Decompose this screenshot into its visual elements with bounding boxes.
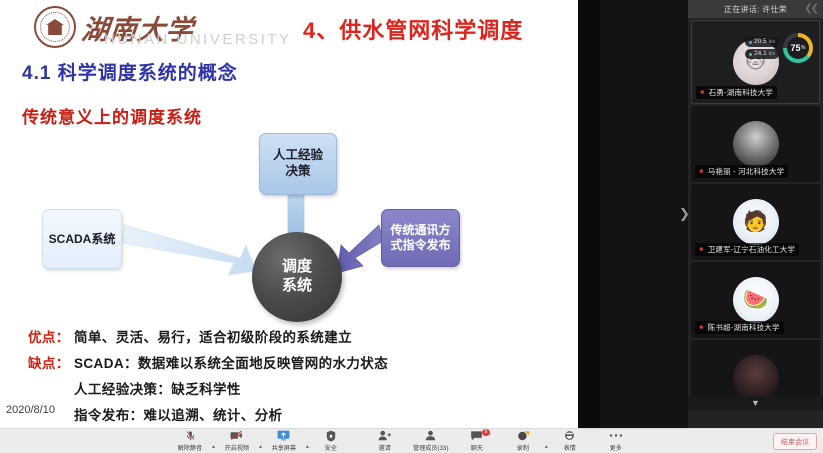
avatar-face-icon: 🍉 (743, 290, 768, 310)
university-name-en: HUNAN UNIVERSITY (104, 31, 292, 48)
chat-unread-badge: 9 (482, 429, 490, 436)
participant-name: 马艳丽 - 河北科技大学 (708, 166, 785, 177)
bullet-text: 指令发布：难以追溯、统计、分析 (74, 404, 283, 424)
connection-quality-ring: 75 % (783, 33, 813, 63)
toolbar-button-chat[interactable]: 9 聊天 (455, 430, 499, 453)
participant-tile[interactable]: 🐱 20.5 k/s 24.1 k/s (691, 20, 820, 104)
toolbar-button-start-video[interactable]: 开启视频 (215, 430, 259, 453)
security-shield-icon (326, 430, 336, 442)
mic-muted-icon: ⚫ (698, 324, 705, 332)
toolbar-button-emoji[interactable]: 表情 (548, 430, 592, 453)
node-core-line2: 系统 (282, 277, 312, 294)
rail-scroll-down-icon[interactable]: ▼ (688, 396, 823, 410)
toolbar-label: 录制 (517, 443, 529, 452)
bullet-row: 人工经验决策：缺乏科学性 (28, 378, 568, 398)
scheduling-system-diagram: 人工经验 决策 SCADA系统 传统通讯方 式指令发布 调度 系统 (0, 125, 578, 320)
bullet-text: 简单、灵活、易行，适合初级阶段的系统建立 (74, 326, 352, 346)
node-comm-line2: 式指令发布 (390, 238, 450, 252)
bullet-row: 缺点： SCADA：数据难以系统全面地反映管网的水力状态 (28, 352, 568, 372)
toolbar-button-share-screen[interactable]: 共享屏幕 (262, 430, 306, 453)
network-stats: 20.5 k/s 24.1 k/s 75 % (745, 33, 813, 63)
share-screen-icon (277, 430, 290, 442)
end-meeting-button[interactable]: 结束会议 (773, 433, 817, 450)
slide-date: 2020/8/10 (6, 404, 55, 416)
invite-user-icon (378, 430, 391, 442)
participant-name-chip: ⚫ 石勇-湖南科技大学 (696, 86, 777, 99)
connection-quality-value: 75 (791, 43, 801, 53)
participant-tiles[interactable]: 🐱 20.5 k/s 24.1 k/s (688, 18, 823, 410)
bullet-text: SCADA：数据难以系统全面地反映管网的水力状态 (74, 352, 388, 372)
upload-speed-pill: 20.5 k/s (745, 37, 779, 47)
toolbar-label: 聊天 (471, 443, 483, 452)
participant-name-chip: ⚫ 马艳丽 - 河北科技大学 (695, 165, 788, 178)
upload-dot-icon (749, 41, 752, 44)
rail-expand-chevrons-icon[interactable]: ❮❮ (804, 3, 817, 14)
download-dot-icon (749, 53, 752, 56)
toolbar-label: 更多 (610, 443, 622, 452)
download-speed-unit: k/s (769, 51, 775, 57)
diagram-node-manual-decision: 人工经验 决策 (259, 133, 337, 195)
avatar (733, 355, 779, 401)
node-core-line1: 调度 (282, 258, 312, 275)
bullet-text: 人工经验决策：缺乏科学性 (74, 378, 241, 398)
participant-tile[interactable]: ⚫ 马艳丽 - 河北科技大学 (691, 106, 820, 182)
shared-screen-stage: 湖南大学 HUNAN UNIVERSITY 4、供水管网科学调度 4.1 科学调… (0, 0, 600, 428)
avatar-face-icon: 🧑 (743, 212, 768, 232)
meeting-toolbar: 解除静音 ▲ 开启视频 ▲ 共享屏幕 ▲ 安全 (0, 428, 823, 453)
participant-name-chip: ⚫ 卫建军-辽宁石油化工大学 (695, 243, 799, 256)
toolbar-label: 共享屏幕 (272, 443, 296, 452)
bullet-row: 指令发布：难以追溯、统计、分析 (28, 404, 568, 424)
toolbar-button-more[interactable]: 更多 (594, 430, 638, 453)
toolbar-label: 开启视频 (225, 443, 249, 452)
toolbar-label: 安全 (325, 443, 337, 452)
toolbar-button-security[interactable]: 安全 (309, 430, 353, 453)
toolbar-label: 邀请 (379, 443, 391, 452)
participant-name-chip: ⚫ 陈书超-湖南科技大学 (695, 321, 784, 334)
record-icon (517, 430, 529, 442)
emoji-icon (564, 430, 575, 442)
mic-muted-icon: ⚫ (699, 89, 706, 97)
download-speed-pill: 24.1 k/s (745, 49, 779, 59)
participant-name: 石勇-湖南科技大学 (709, 87, 773, 98)
toolbar-button-invite[interactable]: 邀请 (363, 430, 407, 453)
mic-muted-icon: ⚫ (698, 246, 705, 254)
toolbar-label: 管理成员(33) (413, 443, 448, 452)
download-speed-value: 24.1 (754, 51, 767, 58)
meeting-window: 湖南大学 HUNAN UNIVERSITY 4、供水管网科学调度 4.1 科学调… (0, 0, 823, 453)
node-comm-line1: 传统通讯方 (390, 223, 450, 237)
collapse-panel-arrow-icon[interactable]: ❯ (679, 203, 689, 225)
diagram-node-communication: 传统通讯方 式指令发布 (381, 209, 460, 267)
participant-tile[interactable]: 🍉 ⚫ 陈书超-湖南科技大学 (691, 262, 820, 338)
bullet-row: 优点： 简单、灵活、易行，适合初级阶段的系统建立 (28, 326, 568, 346)
active-speaker-bar: 正在讲话: 许仕荣 ❮❮ (688, 0, 823, 18)
diagram-node-scheduling-system: 调度 系统 (252, 232, 342, 322)
more-icon (609, 430, 623, 442)
participant-name: 卫建军-辽宁石油化工大学 (708, 244, 795, 255)
manage-members-icon (424, 430, 437, 442)
toolbar-button-record[interactable]: 录制 (501, 430, 545, 453)
toolbar-button-unmute[interactable]: 解除静音 (168, 430, 212, 453)
upload-speed-unit: k/s (769, 39, 775, 45)
mic-muted-icon: ⚫ (698, 168, 705, 176)
mic-muted-icon (185, 430, 196, 442)
node-manual-line2: 决策 (285, 164, 310, 178)
toolbar-label: 表情 (564, 443, 576, 452)
slide-section-heading: 4.1 科学调度系统的概念 (22, 58, 238, 85)
participant-name: 陈书超-湖南科技大学 (708, 322, 780, 333)
presentation-slide: 湖南大学 HUNAN UNIVERSITY 4、供水管网科学调度 4.1 科学调… (0, 0, 578, 428)
stage-letterbox (578, 0, 600, 428)
avatar: 🍉 (733, 277, 779, 323)
diagram-node-scada: SCADA系统 (42, 209, 122, 269)
connection-quality-unit: % (801, 45, 805, 51)
toolbar-button-manage-members[interactable]: 管理成员(33) (409, 430, 453, 453)
avatar: 🧑 (733, 199, 779, 245)
video-off-icon (230, 430, 243, 442)
bullet-key: 缺点： (28, 352, 74, 372)
university-seal-icon (34, 6, 76, 48)
upload-speed-value: 20.5 (754, 39, 767, 46)
active-speaker-label: 正在讲话: 许仕荣 (724, 4, 787, 15)
toolbar-label: 解除静音 (178, 443, 202, 452)
toolbar-items: 解除静音 ▲ 开启视频 ▲ 共享屏幕 ▲ 安全 (168, 430, 638, 453)
slide-bullet-list: 优点： 简单、灵活、易行，适合初级阶段的系统建立 缺点： SCADA：数据难以系… (28, 326, 568, 428)
node-manual-line1: 人工经验 (273, 148, 323, 162)
participant-tile[interactable]: 🧑 ⚫ 卫建军-辽宁石油化工大学 (691, 184, 820, 260)
bullet-key: 优点： (28, 326, 74, 346)
avatar (733, 121, 779, 167)
participant-rail: 正在讲话: 许仕荣 ❮❮ 🐱 20.5 k/s (688, 0, 823, 428)
slide-title: 4、供水管网科学调度 (303, 13, 523, 45)
